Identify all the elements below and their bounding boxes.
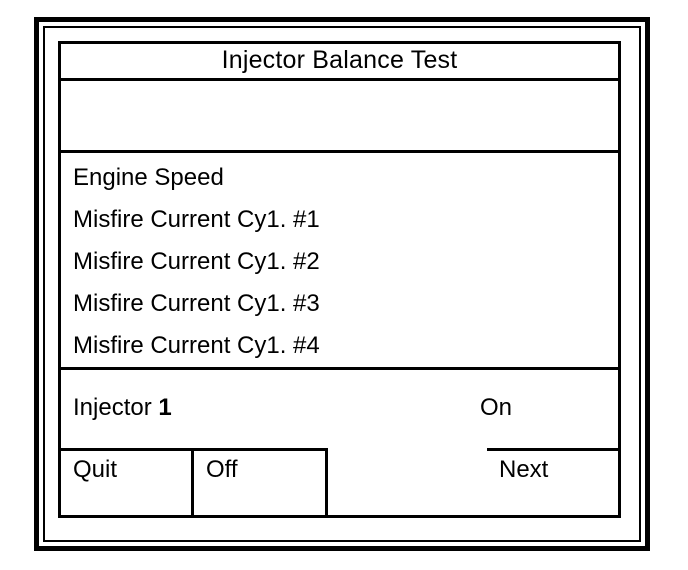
list-item[interactable]: Misfire Current Cy1. #2 <box>61 241 618 283</box>
injector-label-prefix: Injector <box>73 394 158 421</box>
quit-button[interactable]: Quit <box>61 448 194 515</box>
screen-root: Injector Balance Test Engine Speed Misfi… <box>0 0 688 570</box>
list-item[interactable]: Misfire Current Cy1. #1 <box>61 199 618 241</box>
parameter-label: Misfire Current Cy1. #3 <box>73 292 320 316</box>
bezel-outer-frame: Injector Balance Test Engine Speed Misfi… <box>34 17 650 551</box>
page-title: Injector Balance Test <box>61 44 618 81</box>
bezel-inner-frame: Injector Balance Test Engine Speed Misfi… <box>43 26 641 542</box>
parameter-label: Misfire Current Cy1. #2 <box>73 250 320 274</box>
parameter-label: Misfire Current Cy1. #4 <box>73 334 320 358</box>
next-button[interactable]: Next <box>487 448 618 515</box>
scan-tool-panel: Injector Balance Test Engine Speed Misfi… <box>58 41 621 518</box>
list-item[interactable]: Misfire Current Cy1. #4 <box>61 325 618 367</box>
injector-label: Injector 1 <box>73 396 172 420</box>
parameter-label: Engine Speed <box>73 166 224 190</box>
injector-status-row: Injector 1 On <box>61 370 618 448</box>
injector-number: 1 <box>158 394 171 421</box>
parameter-list: Engine Speed Misfire Current Cy1. #1 Mis… <box>61 153 618 370</box>
injector-state-value: On <box>480 396 512 420</box>
softkey-bar: Quit Off Next <box>61 448 618 515</box>
list-item[interactable]: Misfire Current Cy1. #3 <box>61 283 618 325</box>
softkey-spacer <box>328 448 487 515</box>
parameter-label: Misfire Current Cy1. #1 <box>73 208 320 232</box>
list-item[interactable]: Engine Speed <box>61 157 618 199</box>
value-display-box <box>61 81 618 153</box>
value-display-text <box>61 81 618 150</box>
off-button[interactable]: Off <box>194 448 328 515</box>
